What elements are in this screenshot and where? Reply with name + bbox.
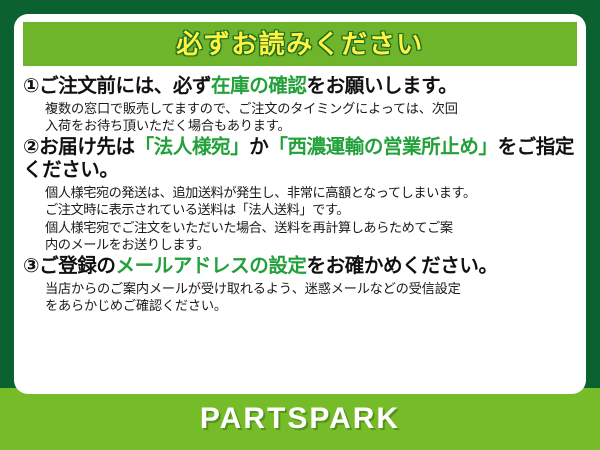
section-1-heading: ①ご注文前には、必ず在庫の確認をお願いします。 xyxy=(23,75,577,98)
section-2-body: 個人様宅宛の発送は、追加送料が発生し、非常に高額となってしまいます。 ご注文時に… xyxy=(23,184,577,254)
section-3-heading-part-3: をお確かめください。 xyxy=(307,255,498,277)
section-1-heading-part-3: をお願いします。 xyxy=(307,75,458,97)
section-2-body-line-1: 個人様宅宛の発送は、追加送料が発生し、非常に高額となってしまいます。 xyxy=(45,184,577,201)
section-3-heading-part-1: ご登録の xyxy=(39,255,115,277)
section-2-heading-part-1: お届け先は xyxy=(39,136,135,158)
section-1-marker: ① xyxy=(23,75,39,97)
section-2-body-line-4: 内のメールをお送りします。 xyxy=(45,236,577,253)
section-1-body-line-2: 入荷をお待ち頂いただく場合もあります。 xyxy=(45,117,577,134)
section-3-heading-highlight: メールアドレスの設定 xyxy=(116,255,307,277)
section-2-body-line-2: ご注文時に表示されている送料は「法人送料」です。 xyxy=(45,201,577,218)
notice-banner: 必ずお読みください ①ご注文前には、必ず在庫の確認をお願いします。 複数の窓口で… xyxy=(0,0,600,450)
title-band: 必ずお読みください xyxy=(23,22,577,66)
section-2-marker: ② xyxy=(23,136,39,158)
section-2-body-line-3: 個人様宅宛でご注文をいただいた場合、送料を再計算しあらためてご案 xyxy=(45,219,577,236)
sections-list: ①ご注文前には、必ず在庫の確認をお願いします。 複数の窓口で販売してますので、ご… xyxy=(14,66,586,394)
section-2-heading-highlight-1: 「法人様宛」 xyxy=(135,136,250,158)
section-1-heading-highlight: 在庫の確認 xyxy=(211,75,307,97)
section-3-body-line-1: 当店からのご案内メールが受け取れるよう、迷惑メールなどの受信設定 xyxy=(45,280,577,297)
footer-band xyxy=(0,388,600,450)
notice-card: 必ずお読みください ①ご注文前には、必ず在庫の確認をお願いします。 複数の窓口で… xyxy=(14,14,586,394)
page-title: 必ずお読みください xyxy=(176,31,424,57)
section-3-heading: ③ご登録のメールアドレスの設定をお確かめください。 xyxy=(23,255,577,278)
section-3-marker: ③ xyxy=(23,255,39,277)
section-1-body-line-1: 複数の窓口で販売してますので、ご注文のタイミングによっては、次回 xyxy=(45,100,577,117)
section-2-heading-highlight-2: 「西濃運輸の営業所止め」 xyxy=(268,136,497,158)
section-1-heading-part-1: ご注文前には、必ず xyxy=(39,75,211,97)
section-2-heading-part-3: か xyxy=(249,136,268,158)
section-3-body-line-2: をあらかじめご確認ください。 xyxy=(45,297,577,314)
section-3-body: 当店からのご案内メールが受け取れるよう、迷惑メールなどの受信設定 をあらかじめご… xyxy=(23,280,577,315)
notice-section-1: ①ご注文前には、必ず在庫の確認をお願いします。 複数の窓口で販売してますので、ご… xyxy=(23,75,577,134)
notice-section-3: ③ご登録のメールアドレスの設定をお確かめください。 当店からのご案内メールが受け… xyxy=(23,255,577,314)
section-2-heading: ②お届け先は「法人様宛」か「西濃運輸の営業所止め」をご指定ください。 xyxy=(23,136,577,181)
section-1-body: 複数の窓口で販売してますので、ご注文のタイミングによっては、次回 入荷をお待ち頂… xyxy=(23,100,577,135)
notice-section-2: ②お届け先は「法人様宛」か「西濃運輸の営業所止め」をご指定ください。 個人様宅宛… xyxy=(23,136,577,253)
